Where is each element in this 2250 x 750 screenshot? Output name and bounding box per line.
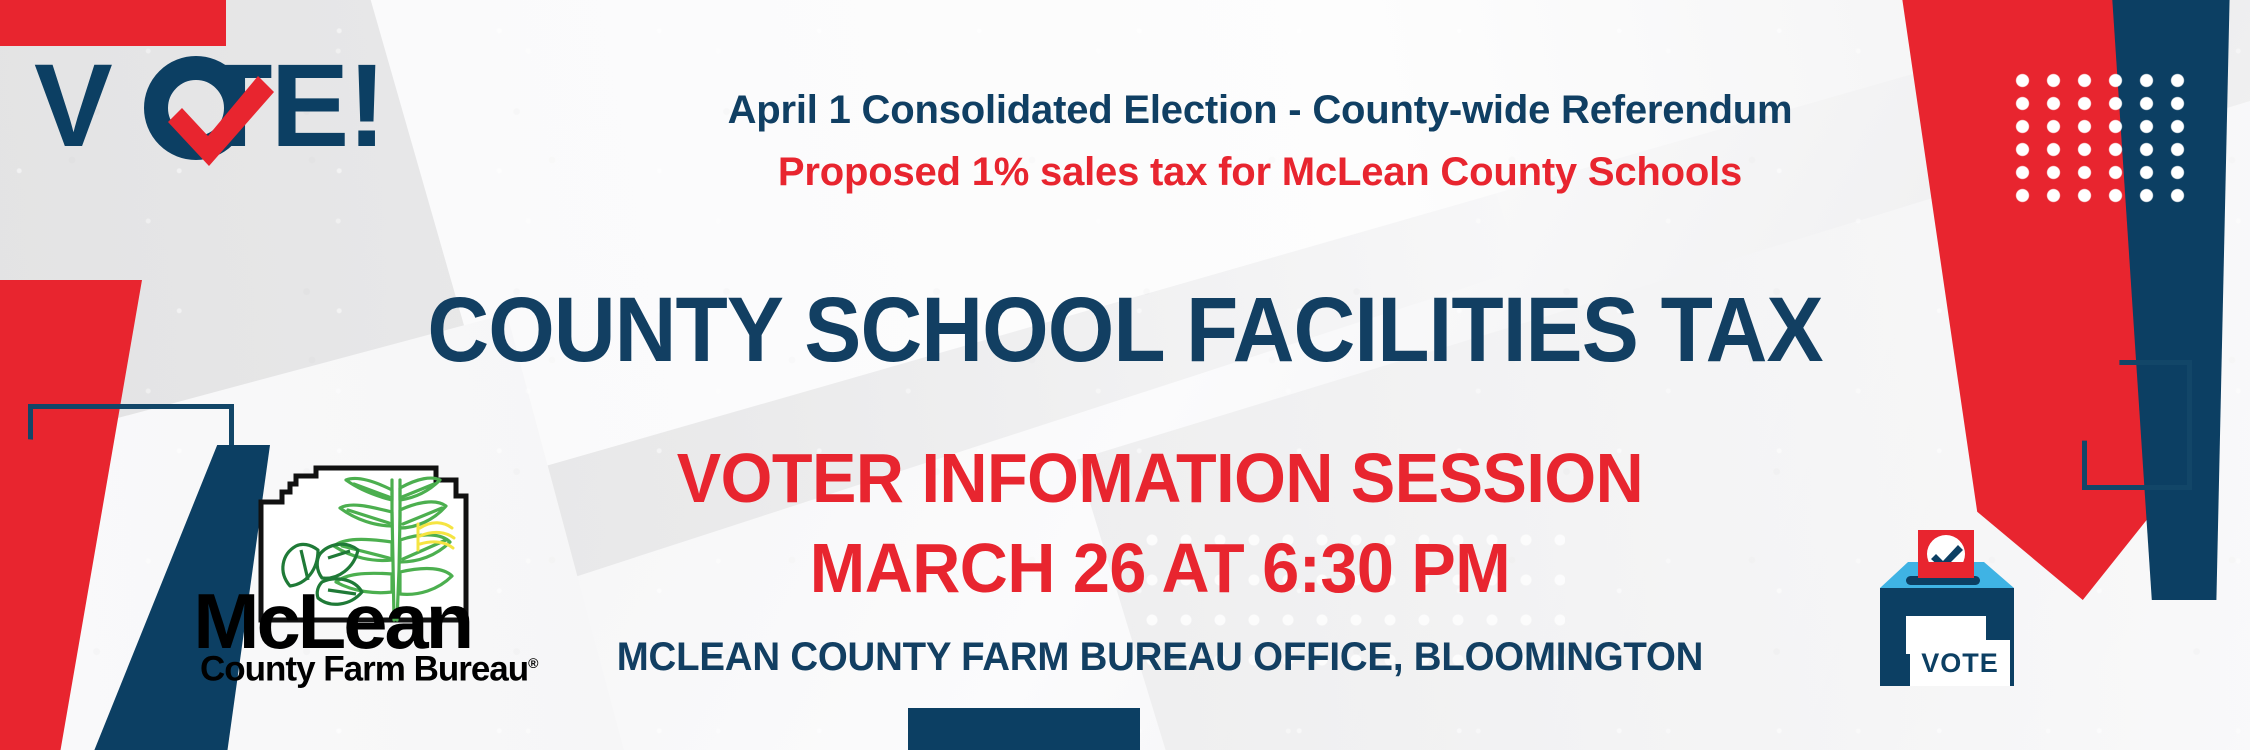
vote-wordmark: VOTE! bbox=[34, 46, 454, 166]
vote-wordmark-v: V bbox=[34, 40, 111, 172]
farm-bureau-trademark: ® bbox=[528, 655, 537, 671]
ballot-box-vote-text: VOTE bbox=[1921, 648, 1999, 679]
event-session-title: VOTER INFOMATION SESSION bbox=[590, 438, 1730, 518]
ballot-box-graphic bbox=[1866, 516, 2066, 736]
top-right-dot-grid bbox=[2005, 67, 2191, 203]
event-venue: MCLEAN COUNTY FARM BUREAU OFFICE, BLOOMI… bbox=[584, 635, 1736, 680]
page-title: COUNTY SCHOOL FACILITIES TAX bbox=[79, 278, 2172, 383]
bottom-navy-bar bbox=[908, 708, 1140, 750]
farm-bureau-subtitle: County Farm Bureau® bbox=[200, 646, 537, 687]
header-line-2: Proposed 1% sales tax for McLean County … bbox=[640, 150, 1880, 195]
vote-campaign-banner: VOTE! April 1 Consolidated Election - Co… bbox=[0, 0, 2250, 750]
ballot-box-icon: VOTE bbox=[1866, 516, 2066, 736]
farm-bureau-subtitle-text: County Farm Bureau bbox=[200, 650, 528, 689]
background-wash-upper-right bbox=[315, 0, 2046, 477]
event-date-time: MARCH 26 AT 6:30 PM bbox=[590, 528, 1730, 608]
ballot-box-vote-plate: VOTE bbox=[1910, 640, 2010, 686]
mclean-county-farm-bureau-logo: McLean County Farm Bureau® bbox=[196, 450, 576, 690]
checkmark-icon bbox=[162, 70, 280, 174]
header-line-1: April 1 Consolidated Election - County-w… bbox=[640, 88, 1880, 133]
